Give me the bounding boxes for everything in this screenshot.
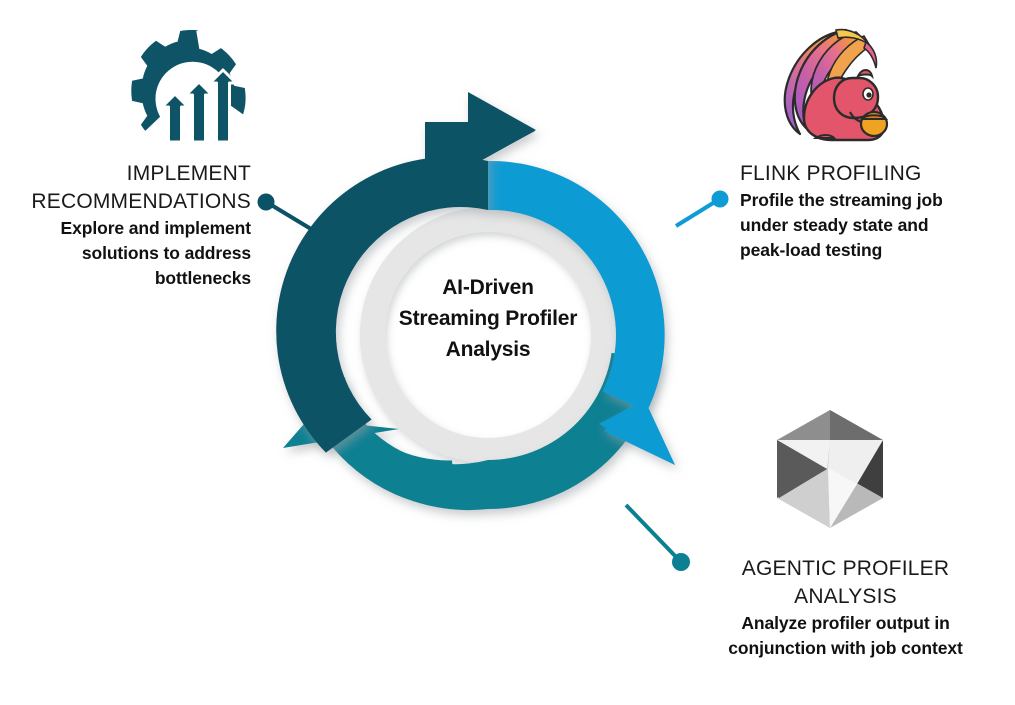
center-title-line1: AI-Driven	[358, 272, 618, 303]
diagram-canvas: AI-Driven Streaming Profiler Analysis	[0, 0, 1015, 705]
callout-implement-body-line3: bottlenecks	[0, 266, 251, 291]
cube-icon	[765, 398, 895, 538]
callout-flink-profiling[interactable]: FLINK PROFILING Profile the streaming jo…	[740, 160, 1010, 263]
callout-implement-body-line1: Explore and implement	[0, 216, 251, 241]
gear-arrows-icon	[120, 22, 265, 152]
callout-agentic-heading-line2: ANALYSIS	[676, 583, 1015, 611]
callout-implement-heading-line2: RECOMMENDATIONS	[0, 188, 251, 216]
callout-agentic-profiler-analysis[interactable]: AGENTIC PROFILER ANALYSIS Analyze profil…	[676, 555, 1015, 661]
callout-flink-body-line2: under steady state and	[740, 213, 1010, 238]
callout-flink-body-line1: Profile the streaming job	[740, 188, 1010, 213]
callout-agentic-heading-line1: AGENTIC PROFILER	[676, 555, 1015, 583]
callout-implement-heading-line1: IMPLEMENT	[0, 160, 251, 188]
connector-implement	[258, 194, 317, 233]
callout-flink-heading: FLINK PROFILING	[740, 160, 1010, 188]
center-title: AI-Driven Streaming Profiler Analysis	[358, 272, 618, 365]
callout-agentic-body-line1: Analyze profiler output in	[676, 611, 1015, 636]
center-title-line3: Analysis	[358, 334, 618, 365]
callout-implement-body-line2: solutions to address	[0, 241, 251, 266]
callout-agentic-body-line2: conjunction with job context	[676, 636, 1015, 661]
flink-squirrel-icon	[776, 20, 896, 150]
callout-flink-body-line3: peak-load testing	[740, 238, 1010, 263]
connector-flink	[676, 191, 729, 227]
callout-implement-recommendations[interactable]: IMPLEMENT RECOMMENDATIONS Explore and im…	[0, 160, 251, 291]
center-title-line2: Streaming Profiler	[358, 303, 618, 334]
